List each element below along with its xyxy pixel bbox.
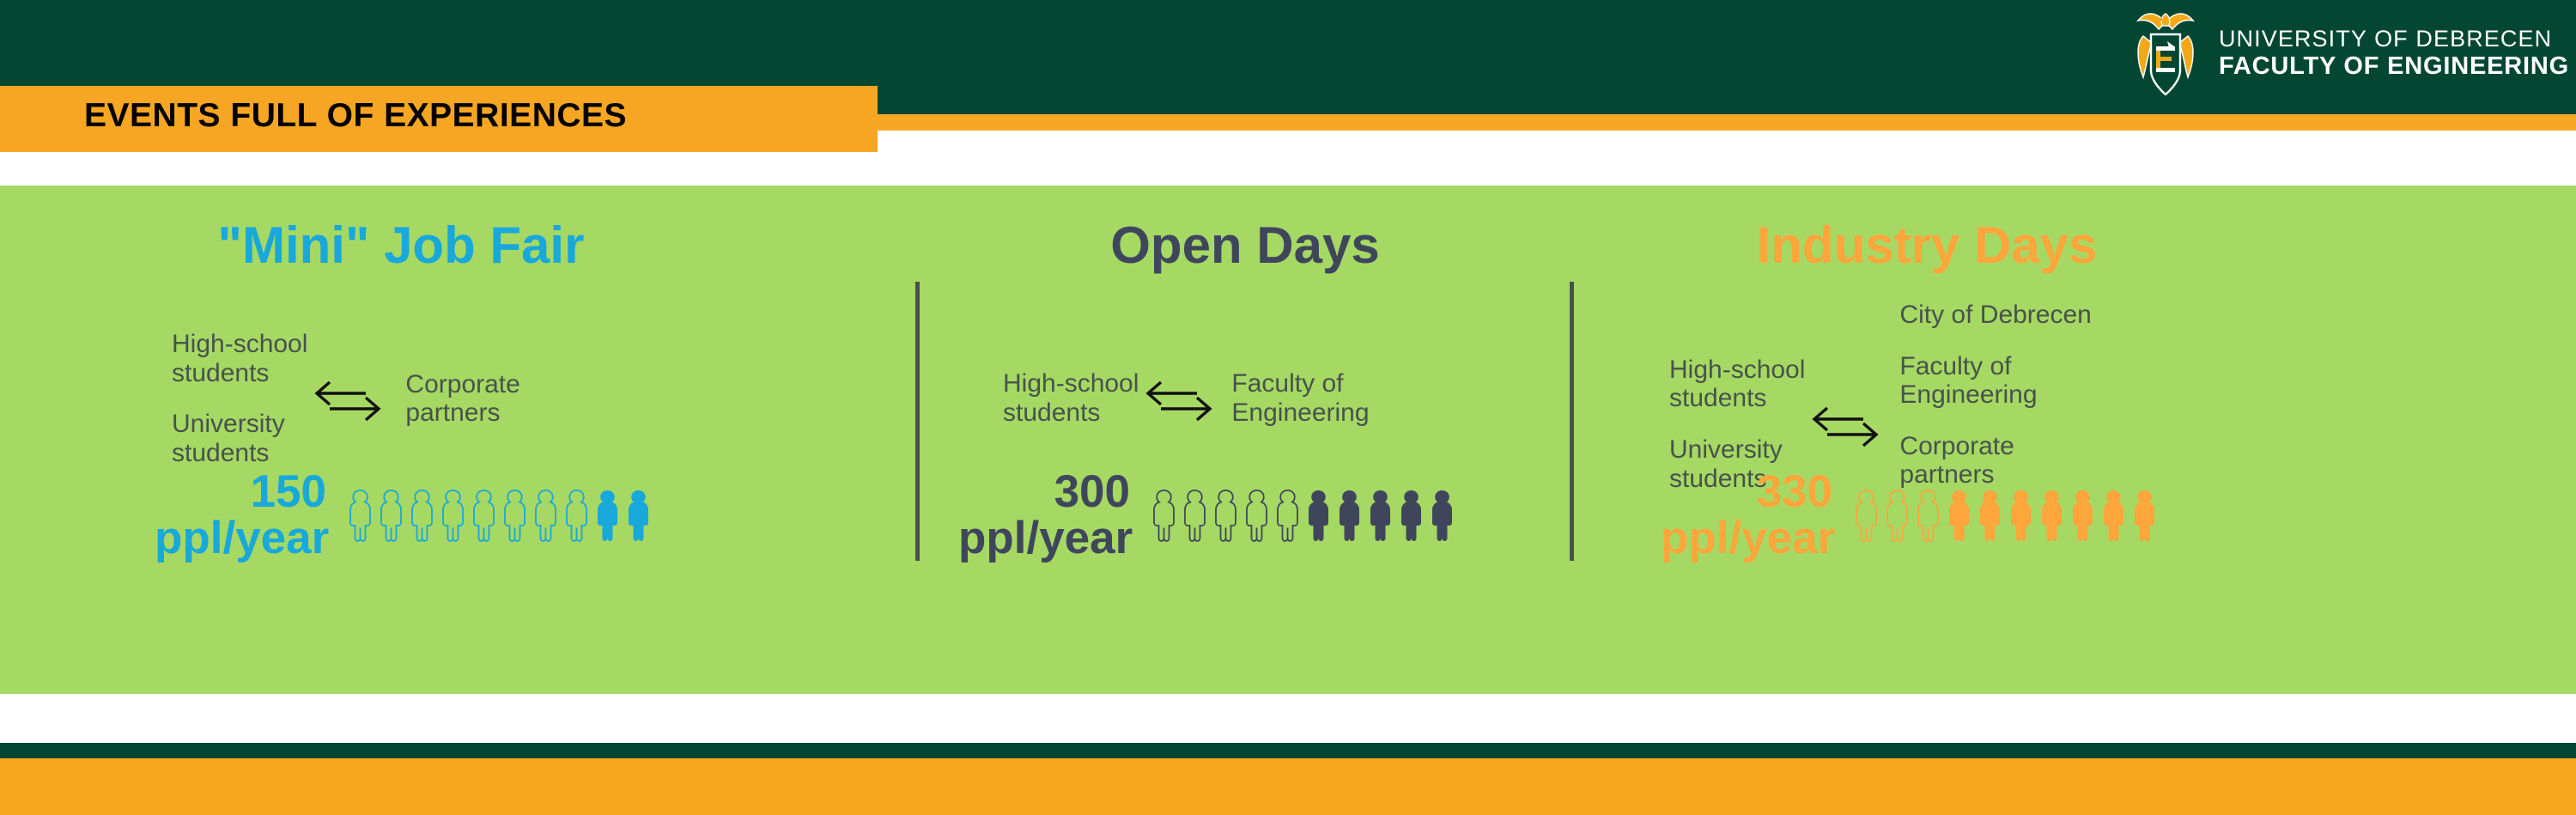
person-icon-filled bbox=[1303, 488, 1334, 543]
person-icon-outline bbox=[1882, 488, 1912, 543]
person-icon-filled bbox=[2006, 488, 2036, 543]
metric-block: 300 ppl/year bbox=[958, 469, 1457, 562]
metric-number: 330 ppl/year bbox=[1661, 469, 1832, 562]
person-icon-outline bbox=[1149, 488, 1179, 543]
flow-text: High-school bbox=[1003, 369, 1139, 398]
brand-text: UNIVERSITY OF DEBRECEN FACULTY OF ENGINE… bbox=[2219, 26, 2569, 81]
flow-text: students bbox=[1669, 384, 1805, 413]
flow-text: Corporate bbox=[1899, 432, 2091, 461]
person-icon-filled bbox=[592, 488, 623, 543]
column-title: "Mini" Job Fair bbox=[0, 216, 841, 275]
column-divider-1 bbox=[915, 282, 920, 561]
audience-flow: High-school students Faculty of bbox=[1003, 368, 1370, 429]
metric-value: 330 bbox=[1757, 466, 1832, 517]
person-icon-outline bbox=[531, 488, 561, 543]
flow-text: Faculty of bbox=[1231, 369, 1369, 398]
person-icon-outline bbox=[1211, 488, 1241, 543]
person-icon-filled bbox=[1944, 488, 1974, 543]
footer-green-line bbox=[0, 743, 2576, 758]
university-coat-of-arms-icon bbox=[2129, 5, 2202, 101]
flow-text: partners bbox=[405, 398, 519, 428]
flow-text: High-school bbox=[172, 330, 307, 359]
column-industry-days: Industry Days High-school students Unive… bbox=[1575, 186, 2348, 694]
metric-value: 300 bbox=[1054, 466, 1130, 517]
metric-block: 330 ppl/year bbox=[1661, 469, 2160, 562]
bidirectional-arrow-icon bbox=[307, 368, 390, 429]
brand-lockup: UNIVERSITY OF DEBRECEN FACULTY OF ENGINE… bbox=[2129, 5, 2569, 101]
people-pictogram bbox=[1149, 488, 1457, 543]
content-panel: "Mini" Job Fair High-school students Uni… bbox=[0, 186, 2576, 694]
brand-university-name: UNIVERSITY OF DEBRECEN bbox=[2219, 26, 2569, 52]
brand-faculty-name: FACULTY OF ENGINEERING bbox=[2219, 52, 2569, 81]
people-pictogram bbox=[1851, 488, 2160, 543]
person-icon-outline bbox=[1242, 488, 1272, 543]
flow-text: University bbox=[172, 410, 307, 439]
person-icon-outline bbox=[1273, 488, 1303, 543]
metric-unit: ppl/year bbox=[1661, 515, 1832, 562]
column-mini-job-fair: "Mini" Job Fair High-school students Uni… bbox=[34, 186, 915, 694]
page-title: EVENTS FULL OF EXPERIENCES bbox=[84, 97, 627, 135]
flow-left-groups: High-school students bbox=[1003, 369, 1139, 427]
column-divider-2 bbox=[1570, 282, 1574, 561]
person-icon-outline bbox=[345, 488, 375, 543]
person-icon-filled bbox=[1427, 488, 1457, 543]
person-icon-outline bbox=[500, 488, 530, 543]
person-icon-filled bbox=[1396, 488, 1426, 543]
person-icon-filled bbox=[2068, 488, 2098, 543]
metric-number: 300 ppl/year bbox=[958, 469, 1130, 562]
person-icon-outline bbox=[438, 488, 468, 543]
person-icon-filled bbox=[2037, 488, 2067, 543]
person-icon-filled bbox=[1975, 488, 2005, 543]
flow-right-groups: Corporate partners bbox=[405, 370, 519, 428]
flow-text: City of Debrecen bbox=[1899, 301, 2091, 330]
person-icon-outline bbox=[407, 488, 437, 543]
flow-text: University bbox=[1669, 435, 1805, 465]
person-icon-filled bbox=[1365, 488, 1395, 543]
metric-unit: ppl/year bbox=[155, 515, 326, 562]
bidirectional-arrow-icon bbox=[1139, 368, 1221, 429]
person-icon-outline bbox=[1180, 488, 1210, 543]
footer-orange-bar bbox=[0, 758, 2576, 815]
metric-block: 150 ppl/year bbox=[155, 469, 653, 562]
flow-left-groups: High-school students University students bbox=[172, 330, 307, 467]
metric-unit: ppl/year bbox=[958, 515, 1130, 562]
flow-text: Faculty of bbox=[1899, 352, 2091, 381]
person-icon-filled bbox=[1334, 488, 1364, 543]
person-icon-outline bbox=[562, 488, 592, 543]
column-title: Industry Days bbox=[1540, 216, 2313, 275]
person-icon-outline bbox=[469, 488, 499, 543]
flow-text: High-school bbox=[1669, 356, 1805, 385]
flow-text: students bbox=[172, 359, 307, 388]
column-open-days: Open Days High-school students bbox=[920, 186, 1570, 694]
flow-text: Engineering bbox=[1231, 398, 1369, 428]
column-title: Open Days bbox=[920, 216, 1570, 275]
flow-right-groups: City of Debrecen Faculty of Engineering … bbox=[1899, 301, 2091, 490]
person-icon-outline bbox=[1851, 488, 1881, 543]
footer-white-gap bbox=[0, 694, 2576, 743]
person-icon-outline bbox=[376, 488, 406, 543]
slide-root: EVENTS FULL OF EXPERIENCES bbox=[0, 0, 2576, 815]
flow-text: Engineering bbox=[1899, 380, 2091, 410]
person-icon-outline bbox=[1913, 488, 1943, 543]
audience-flow: High-school students University students bbox=[172, 330, 520, 467]
people-pictogram bbox=[345, 488, 653, 543]
metric-value: 150 bbox=[251, 466, 326, 517]
person-icon-filled bbox=[2129, 488, 2160, 543]
person-icon-filled bbox=[623, 488, 653, 543]
flow-text: students bbox=[172, 439, 307, 468]
bidirectional-arrow-icon bbox=[1805, 393, 1887, 455]
person-icon-filled bbox=[2099, 488, 2129, 543]
metric-number: 150 ppl/year bbox=[155, 469, 326, 562]
flow-right-groups: Faculty of Engineering bbox=[1231, 369, 1369, 427]
flow-text: students bbox=[1003, 398, 1139, 428]
flow-text: Corporate bbox=[405, 370, 519, 399]
